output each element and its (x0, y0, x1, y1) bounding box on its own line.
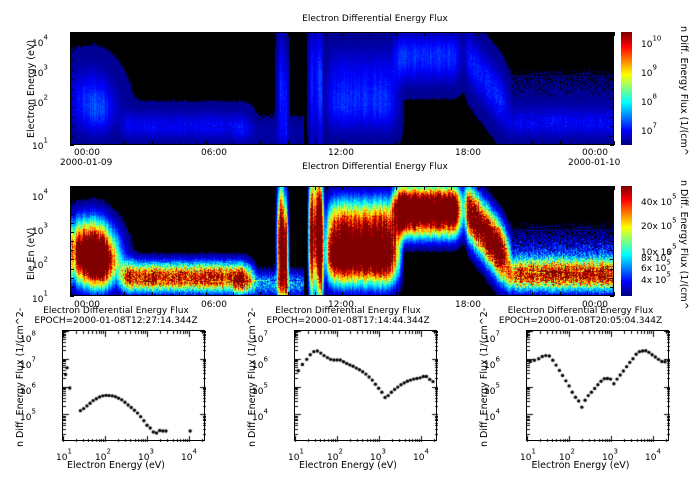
middle-colorbar-tick-1: 20x 105 (641, 214, 677, 233)
axis-tick (396, 32, 397, 36)
axis-tick (260, 186, 261, 190)
axis-tick (369, 292, 370, 296)
axis-tick (70, 186, 74, 187)
axis-tick (532, 292, 533, 296)
axis-tick (610, 98, 614, 99)
axis-tick (396, 292, 397, 296)
spectrum-3-ytick-1: 106 (484, 353, 500, 372)
top-xtick-0: 00:00 (74, 148, 100, 158)
axis-tick (610, 204, 614, 205)
spectrum-3-ytick-3: 104 (484, 405, 500, 424)
axis-tick (206, 292, 207, 296)
axis-tick (396, 141, 397, 145)
axis-tick (478, 186, 479, 190)
spectrum-1-ytick-1: 107 (20, 353, 36, 372)
axis-tick (233, 186, 234, 190)
top-spectrogram-frame (70, 32, 614, 145)
axis-tick (315, 292, 316, 296)
axis-tick (206, 186, 207, 190)
spectrum-1-title: Electron Differential Energy Flux (0, 306, 232, 316)
axis-tick (342, 186, 343, 190)
axis-tick (152, 292, 153, 296)
middle-colorbar-tick-5: 4x 105 (641, 268, 671, 287)
axis-tick (152, 141, 153, 145)
middle-panel-title: Electron Differential Energy Flux (155, 162, 595, 172)
axis-tick (260, 292, 261, 296)
axis-tick (560, 141, 561, 145)
axis-tick (179, 32, 180, 36)
axis-tick (70, 232, 74, 233)
axis-tick (70, 98, 74, 99)
axis-tick (315, 141, 316, 145)
axis-tick (369, 32, 370, 36)
spectrum-2-ylabel: n Diff. Energy Flux (1/(cm^2- (236, 325, 248, 445)
top-panel-title: Electron Differential Energy Flux (155, 14, 595, 24)
axis-tick (124, 141, 125, 145)
axis-tick (97, 32, 98, 36)
axis-tick (610, 51, 614, 52)
axis-tick (70, 250, 74, 251)
top-colorbar-tick-3: 107 (641, 119, 657, 138)
axis-tick (610, 107, 614, 108)
top-ytick-0: 104 (32, 31, 48, 50)
axis-tick (560, 186, 561, 190)
top-xtick-2: 12:00 (328, 148, 354, 158)
axis-tick (260, 32, 261, 36)
axis-tick (288, 292, 289, 296)
middle-panel: Electron Differential Energy Flux Ele En… (0, 160, 697, 310)
top-colorbar-label-text: n Diff. Energy Flux (1/(cm^ (678, 26, 689, 156)
axis-tick (451, 292, 452, 296)
axis-tick (610, 126, 614, 127)
axis-tick (342, 32, 343, 36)
axis-tick (610, 250, 614, 251)
axis-tick (424, 186, 425, 190)
spectrum-3-ytick-2: 105 (484, 379, 500, 398)
axis-tick (560, 292, 561, 296)
axis-tick (610, 32, 614, 33)
axis-tick (70, 126, 74, 127)
axis-tick (610, 269, 614, 270)
spectrum-1-ytick-3: 105 (20, 405, 36, 424)
axis-tick (70, 51, 74, 52)
top-ytick-1: 103 (32, 61, 48, 80)
middle-ytick-1: 103 (32, 219, 48, 238)
axis-tick (396, 186, 397, 190)
axis-tick (206, 32, 207, 36)
axis-tick (610, 241, 614, 242)
axis-tick (610, 287, 614, 288)
axis-tick (233, 292, 234, 296)
axis-tick (70, 278, 74, 279)
axis-tick (610, 186, 614, 187)
axis-tick (505, 141, 506, 145)
axis-tick (315, 32, 316, 36)
axis-tick (70, 89, 74, 90)
axis-tick (610, 195, 614, 196)
axis-tick (70, 223, 74, 224)
axis-tick (610, 60, 614, 61)
top-panel-ylabel: Electron Energy (eV) (14, 28, 28, 138)
axis-tick (505, 32, 506, 36)
spectrum-3-frame (526, 330, 669, 441)
axis-tick (610, 136, 614, 137)
axis-tick (478, 141, 479, 145)
axis-tick (369, 141, 370, 145)
axis-tick (260, 141, 261, 145)
axis-tick (70, 41, 74, 42)
spectrum-2-title: Electron Differential Energy Flux (232, 306, 464, 316)
axis-tick (610, 214, 614, 215)
middle-ytick-0: 104 (32, 185, 48, 204)
axis-tick (70, 79, 74, 80)
axis-tick (614, 32, 615, 36)
axis-tick (70, 145, 74, 146)
top-xtick-4: 00:00 (582, 148, 608, 158)
axis-tick (179, 292, 180, 296)
axis-tick (532, 186, 533, 190)
axis-tick (478, 292, 479, 296)
axis-tick (70, 259, 74, 260)
axis-tick (70, 60, 74, 61)
axis-tick (614, 186, 615, 190)
spectrum-2-ytick-3: 104 (252, 405, 268, 424)
middle-panel-ylabel: Ele En (eV) (14, 200, 28, 290)
spectrum-2-xlabel: Electron Energy (eV) (232, 460, 464, 471)
axis-tick (587, 32, 588, 36)
axis-tick (124, 292, 125, 296)
axis-tick (179, 186, 180, 190)
axis-tick (70, 214, 74, 215)
axis-tick (451, 141, 452, 145)
spectrum-3-ylabel: n Diff. Energy Flux (1/(cm^2- (468, 325, 480, 445)
axis-tick (70, 117, 74, 118)
top-ytick-3: 101 (32, 134, 48, 153)
middle-ytick-2: 102 (32, 253, 48, 272)
axis-tick (97, 186, 98, 190)
axis-tick (70, 70, 74, 71)
axis-tick (587, 186, 588, 190)
top-xtick-3: 18:00 (455, 148, 481, 158)
spectrum-1-frame (62, 330, 205, 441)
axis-tick (478, 32, 479, 36)
spectrum-3-subtitle: EPOCH=2000-01-08T20:05:04.344Z (464, 316, 697, 326)
spectrum-1-ylabel: n Diff. Energy Flux (1/(cm^2- (4, 325, 16, 445)
axis-tick (97, 292, 98, 296)
axis-tick (233, 141, 234, 145)
axis-tick (505, 292, 506, 296)
spectrum-2-ytick-2: 105 (252, 379, 268, 398)
axis-tick (614, 292, 615, 296)
axis-tick (70, 195, 74, 196)
axis-tick (342, 292, 343, 296)
axis-tick (315, 186, 316, 190)
middle-colorbar-label-text: n Diff. Energy Flux (1/(cm^ (678, 180, 689, 310)
axis-tick (70, 296, 74, 297)
axis-tick (424, 141, 425, 145)
top-colorbar-tick-0: 1010 (641, 32, 661, 51)
axis-tick (70, 107, 74, 108)
spectrum-panel-3: Electron Differential Energy Flux EPOCH=… (464, 305, 697, 492)
top-colorbar (621, 32, 632, 145)
axis-tick (532, 32, 533, 36)
axis-tick (614, 141, 615, 145)
axis-tick (152, 186, 153, 190)
axis-tick (342, 141, 343, 145)
axis-tick (610, 79, 614, 80)
axis-tick (70, 136, 74, 137)
axis-tick (610, 89, 614, 90)
axis-tick (288, 186, 289, 190)
top-panel: Electron Differential Energy Flux Electr… (0, 0, 697, 160)
axis-tick (424, 32, 425, 36)
axis-tick (610, 223, 614, 224)
axis-tick (424, 292, 425, 296)
spectrum-3-xlabel: Electron Energy (eV) (464, 460, 697, 471)
middle-ytick-3: 101 (32, 287, 48, 306)
axis-tick (70, 204, 74, 205)
spectrum-1-xlabel: Electron Energy (eV) (0, 460, 232, 471)
top-xtick-1: 06:00 (201, 148, 227, 158)
axis-tick (70, 32, 74, 33)
axis-tick (505, 186, 506, 190)
axis-tick (560, 32, 561, 36)
axis-tick (233, 32, 234, 36)
axis-tick (124, 32, 125, 36)
axis-tick (179, 141, 180, 145)
top-ylabel-text: Electron Energy (eV) (26, 40, 37, 138)
axis-tick (610, 41, 614, 42)
axis-tick (70, 269, 74, 270)
axis-tick (369, 186, 370, 190)
spectrum-3-title: Electron Differential Energy Flux (464, 306, 697, 316)
axis-tick (288, 32, 289, 36)
top-colorbar-tick-2: 108 (641, 90, 657, 109)
axis-tick (610, 296, 614, 297)
axis-tick (587, 141, 588, 145)
spectrum-3-ytick-0: 107 (484, 327, 500, 346)
axis-tick (70, 241, 74, 242)
spectrum-1-ytick-0: 108 (20, 327, 36, 346)
spectrum-panel-1: Electron Differential Energy Flux EPOCH=… (0, 305, 232, 492)
axis-tick (587, 292, 588, 296)
axis-tick (610, 232, 614, 233)
axis-tick (610, 70, 614, 71)
axis-tick (610, 278, 614, 279)
axis-tick (610, 259, 614, 260)
spectrum-2-subtitle: EPOCH=2000-01-08T17:14:44.344Z (232, 316, 464, 326)
axis-tick (152, 32, 153, 36)
spectrum-2-frame (294, 330, 437, 441)
spectrum-2-ytick-0: 107 (252, 327, 268, 346)
middle-colorbar-tick-0: 40x 105 (641, 190, 677, 209)
axis-tick (451, 186, 452, 190)
axis-tick (97, 141, 98, 145)
spectrum-2-ytick-1: 106 (252, 353, 268, 372)
axis-tick (610, 145, 614, 146)
spectrum-1-ytick-2: 106 (20, 379, 36, 398)
axis-tick (451, 32, 452, 36)
axis-tick (610, 117, 614, 118)
spectrum-panel-2: Electron Differential Energy Flux EPOCH=… (232, 305, 464, 492)
axis-tick (124, 186, 125, 190)
axis-tick (70, 287, 74, 288)
middle-colorbar (621, 186, 632, 296)
axis-tick (206, 141, 207, 145)
top-ytick-2: 102 (32, 91, 48, 110)
spectrum-1-subtitle: EPOCH=2000-01-08T12:27:14.344Z (0, 316, 232, 326)
middle-spectrogram-frame (70, 186, 614, 296)
axis-tick (288, 141, 289, 145)
axis-tick (532, 141, 533, 145)
top-colorbar-tick-1: 109 (641, 61, 657, 80)
